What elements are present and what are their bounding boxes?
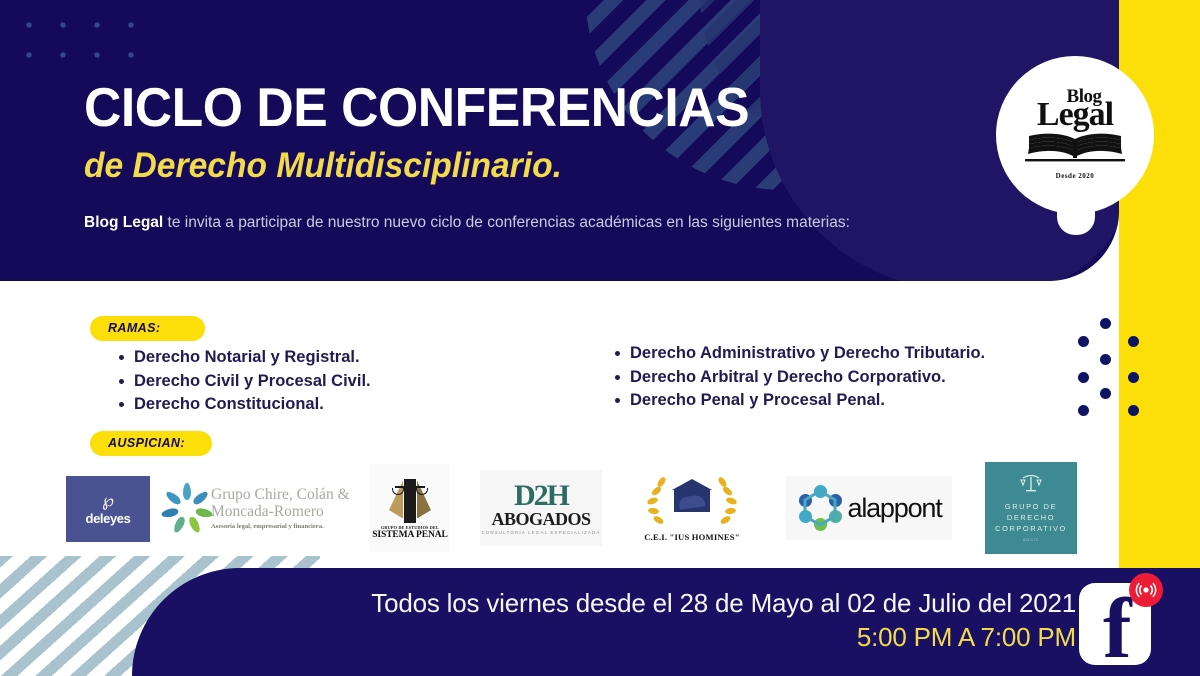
chire-tagline: Asesoría legal, empresarial y financiera… xyxy=(211,522,350,532)
list-item: Derecho Arbitral y Derecho Corporativo. xyxy=(630,366,985,390)
branches-list-left: Derecho Notarial y Registral. Derecho Ci… xyxy=(112,346,371,417)
ius-homines-name: C.E.I. "IUS HOMINES" xyxy=(644,532,739,542)
list-item: Derecho Constitucional. xyxy=(134,393,371,417)
d2h-tagline: CONSULTORÍA LEGAL ESPECIALIZADA xyxy=(481,530,600,535)
intro-paragraph: Blog Legal te invita a participar de nue… xyxy=(84,213,850,233)
footer-date-text: Todos los viernes desde el 28 de Mayo al… xyxy=(371,588,1076,619)
blog-legal-logo: Blog Legal Desde 2020 xyxy=(996,56,1154,214)
gdc-line-1: GRUPO DE xyxy=(1005,501,1057,512)
sponsor-logo-row: ℘ deleyes Grupo Chire, Colán & Moncada-R… xyxy=(60,462,1090,554)
sponsor-logo-deleyes: ℘ deleyes xyxy=(66,476,150,542)
list-item: Derecho Notarial y Registral. xyxy=(134,346,371,370)
facebook-live-badge-icon xyxy=(1129,573,1163,607)
network-nodes-icon xyxy=(797,485,843,531)
list-item: Derecho Civil y Procesal Civil. xyxy=(134,370,371,394)
sponsor-logo-d2h-abogados: D2H ABOGADOS CONSULTORÍA LEGAL ESPECIALI… xyxy=(480,470,602,546)
chire-line-2: Moncada-Romero xyxy=(211,503,350,520)
chire-text-block: Grupo Chire, Colán & Moncada-Romero Ases… xyxy=(211,486,350,532)
list-item: Derecho Administrativo y Derecho Tributa… xyxy=(630,342,985,366)
page-title: CICLO DE CONFERENCIAS xyxy=(84,78,749,136)
scales-of-justice-icon xyxy=(389,477,431,523)
poster-canvas: CICLO DE CONFERENCIAS de Derecho Multidi… xyxy=(0,0,1200,676)
alappont-name: alappont xyxy=(848,493,942,524)
d2h-name: ABOGADOS xyxy=(491,510,590,528)
gdc-line-2: DERECHO xyxy=(1007,512,1055,523)
branches-list-right: Derecho Administrativo y Derecho Tributa… xyxy=(608,342,985,413)
page-subtitle: de Derecho Multidisciplinario. xyxy=(84,146,562,186)
gdc-since: GDC/C xyxy=(1023,538,1040,542)
header-navy-panel xyxy=(0,0,1119,281)
sponsor-logo-grupo-chire: Grupo Chire, Colán & Moncada-Romero Ases… xyxy=(170,478,400,540)
balance-scale-icon xyxy=(1019,474,1043,496)
intro-text: te invita a participar de nuestro nuevo … xyxy=(163,214,850,231)
deleyes-mark-icon: ℘ xyxy=(102,493,114,508)
gdc-line-3: CORPORATIVO xyxy=(995,523,1067,534)
logo-text-legal: Legal xyxy=(1015,100,1135,130)
d2h-monogram-icon: D2H xyxy=(514,482,568,510)
flower-icon xyxy=(170,492,204,526)
deleyes-name: deleyes xyxy=(86,511,131,526)
sponsor-logo-alappont: alappont xyxy=(786,476,952,540)
temple-laurel-icon xyxy=(644,475,740,531)
open-book-icon xyxy=(1015,131,1135,170)
sponsor-logo-ius-homines: C.E.I. "IUS HOMINES" xyxy=(632,468,752,548)
dot-grid-decoration xyxy=(4,4,142,66)
badge-ramas: RAMAS: xyxy=(90,316,205,341)
chire-line-1: Grupo Chire, Colán & xyxy=(211,486,350,503)
facebook-glyph: f xyxy=(1103,587,1132,665)
penal-line-2: SISTEMA PENAL xyxy=(372,530,448,540)
badge-auspician: AUSPICIAN: xyxy=(90,431,212,456)
list-item: Derecho Penal y Procesal Penal. xyxy=(630,389,985,413)
sponsor-logo-sistema-penal: GRUPO DE ESTUDIOS DEL SISTEMA PENAL xyxy=(370,464,450,552)
intro-brand: Blog Legal xyxy=(84,214,163,231)
sponsor-logo-grupo-derecho-corporativo: GRUPO DE DERECHO CORPORATIVO GDC/C xyxy=(985,462,1077,554)
dot-cluster-decoration xyxy=(1072,318,1160,416)
logo-since-text: Desde 2020 xyxy=(1015,172,1135,180)
footer-time-text: 5:00 PM A 7:00 PM xyxy=(857,622,1076,653)
